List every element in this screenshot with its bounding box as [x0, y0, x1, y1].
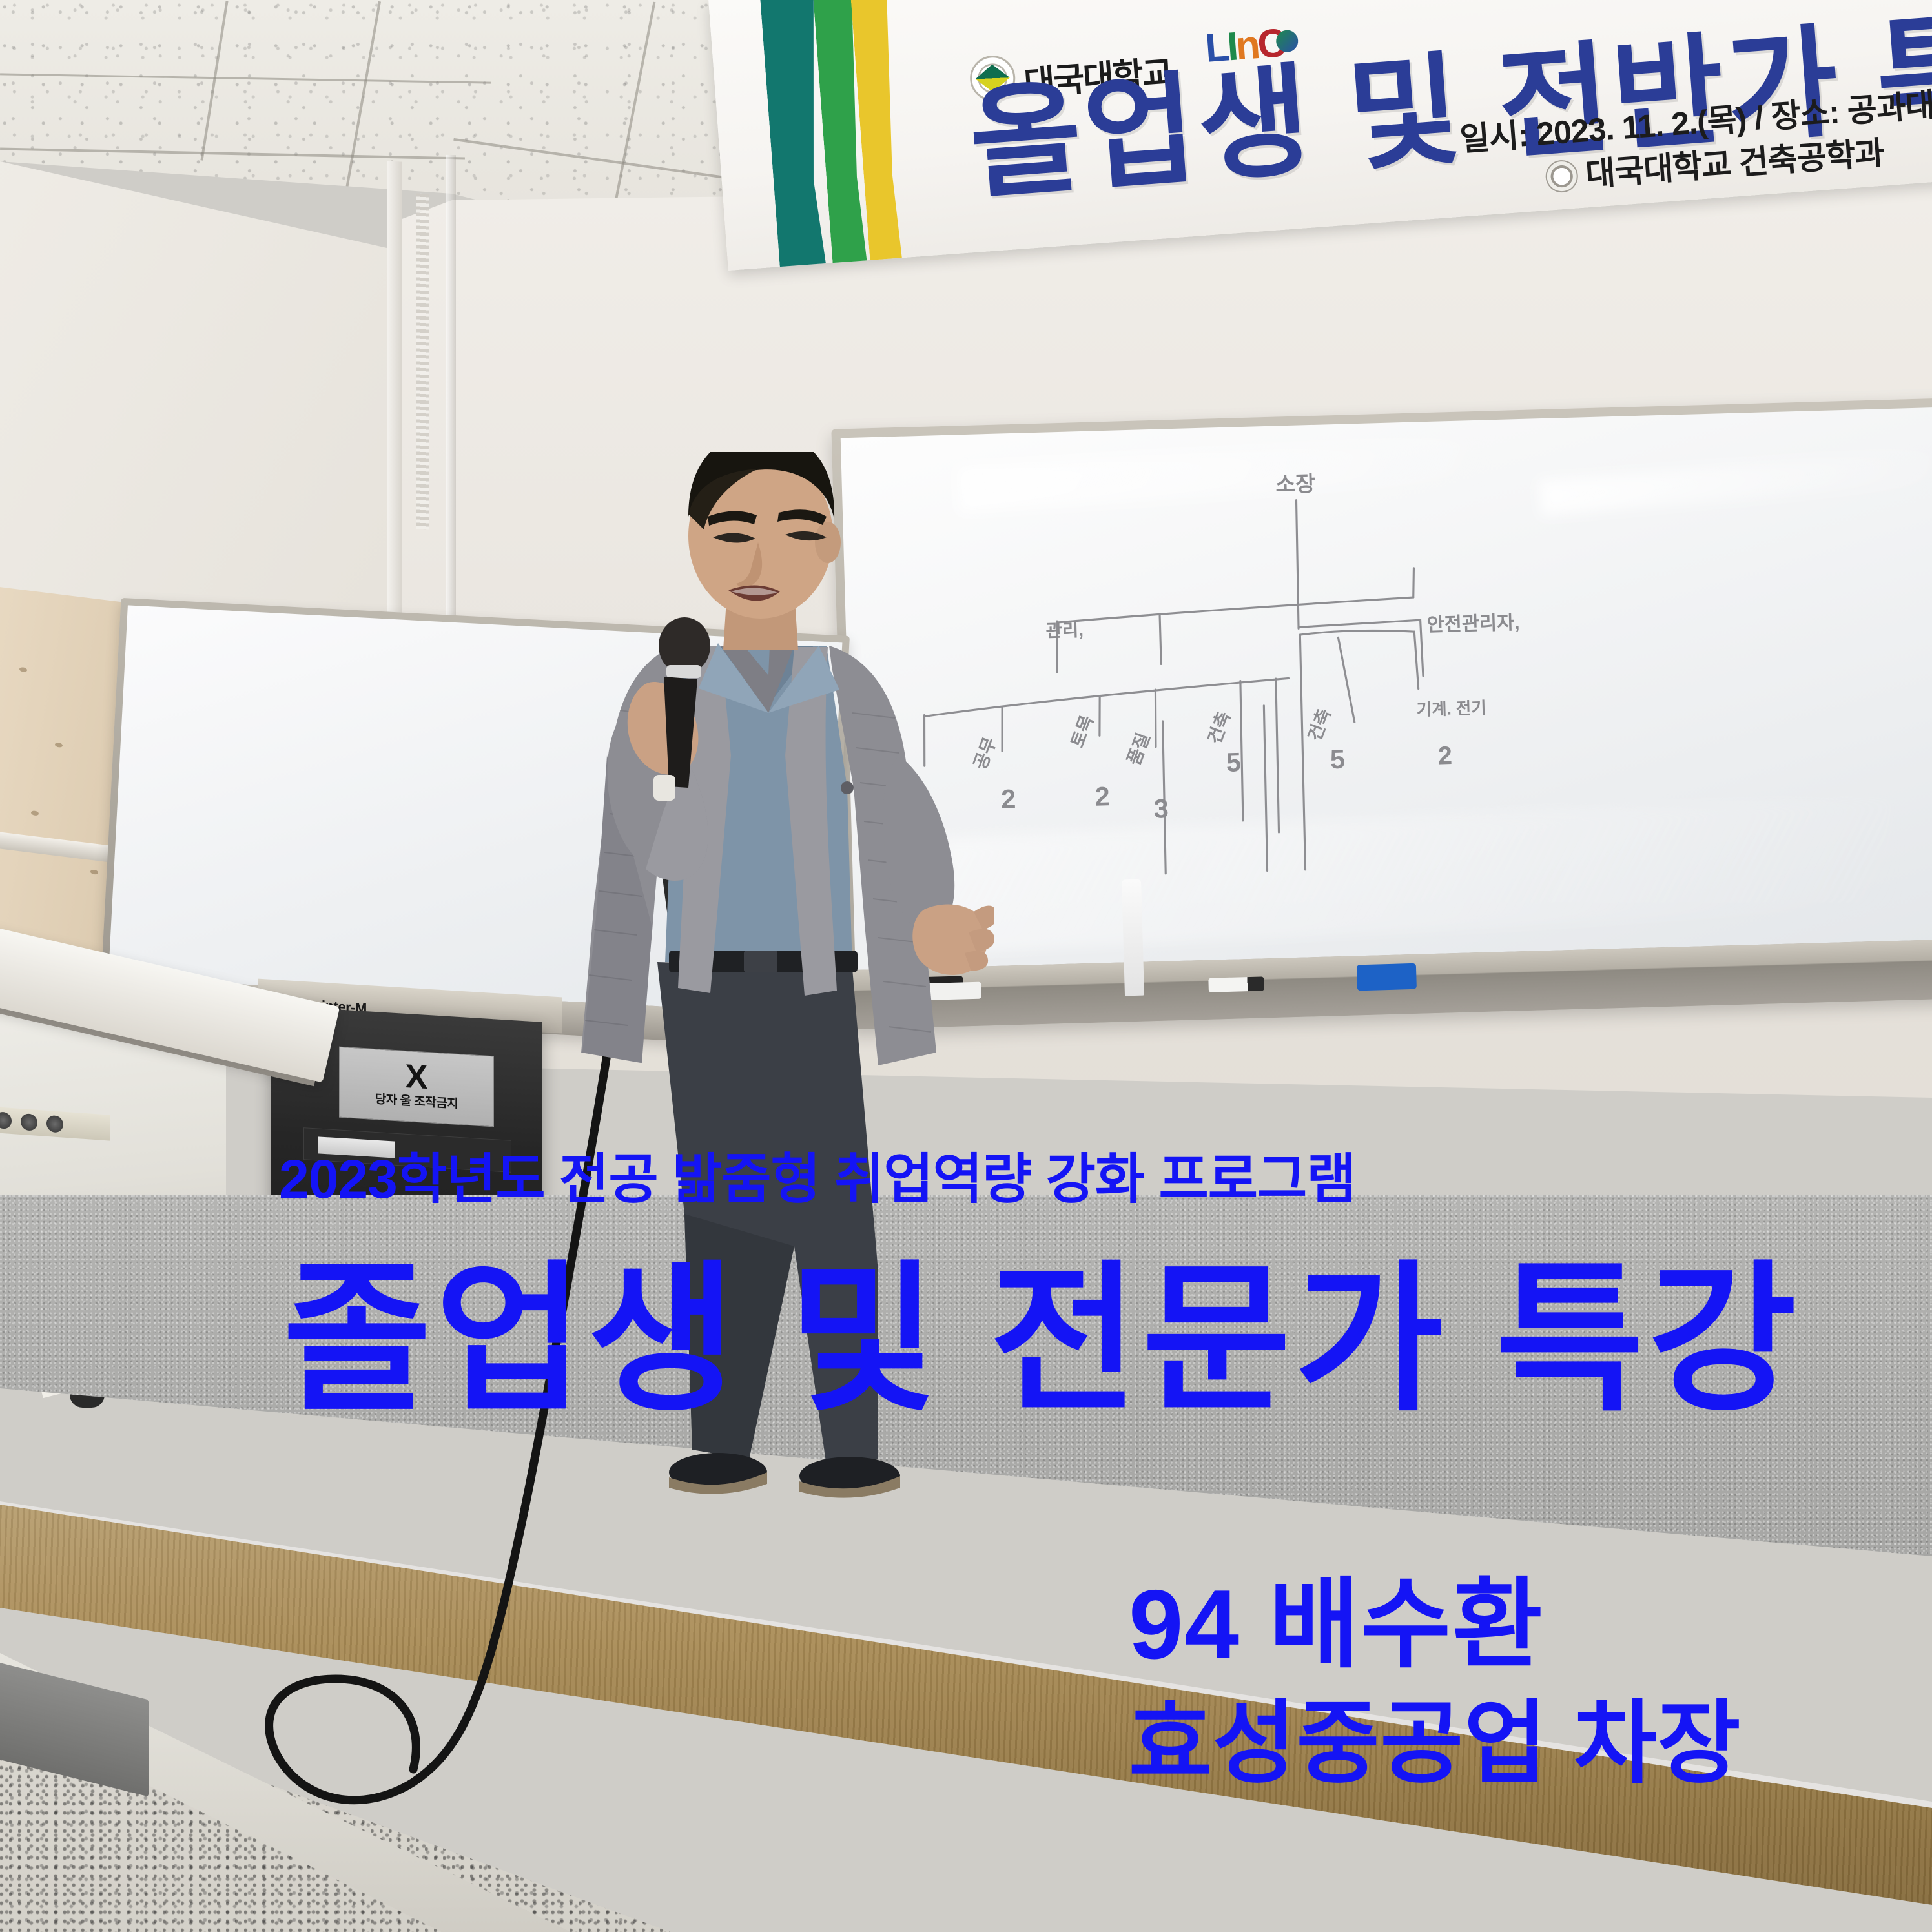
warning-text: 당자 울 조작금지 — [375, 1089, 458, 1112]
wb-node-arch1: 건축 — [1204, 709, 1235, 746]
wb-node-root: 소장 — [1275, 472, 1316, 497]
main-whiteboard: 소장 관리, 안전관리자, 기계. 전기 2 설계 공무 토목 품질 건축 건축 — [831, 398, 1932, 1030]
wb-label-management: 관리, — [1045, 620, 1084, 641]
whiteboard-org-chart: 소장 관리, 안전관리자, 기계. 전기 2 설계 공무 토목 품질 건축 건축 — [841, 407, 1932, 970]
jacket-button — [841, 781, 854, 794]
photo-canvas: 대국대학교 LInC 올업생 및 전반가 특강 일시: 2023. 11. 2.… — [0, 0, 1932, 1932]
overlay-speaker-name: 94 배수환 — [1129, 1576, 1544, 1674]
overlay-speaker-affiliation: 효성중공업 차장 — [1129, 1698, 1742, 1789]
overlay-title: 졸업생 및 전문가 특강 — [283, 1259, 1800, 1421]
whiteboard-surface: 소장 관리, 안전관리자, 기계. 전기 2 설계 공무 토목 품질 건축 건축 — [841, 407, 1932, 970]
white-marker-icon — [1208, 976, 1264, 992]
av-rack-warning-sign: X 당자 울 조작금지 — [339, 1047, 494, 1127]
speaker-person — [491, 452, 994, 1679]
wb-count-civil: 2 — [1094, 781, 1110, 812]
wall-vent — [416, 193, 429, 529]
ear — [815, 522, 841, 563]
wb-count-arch2: 5 — [1330, 745, 1345, 775]
wb-node-quality: 품질 — [1124, 730, 1154, 768]
wb-count-arch1: 5 — [1226, 747, 1241, 777]
blue-eraser-icon — [1357, 963, 1417, 991]
wb-node-arch2: 건축 — [1304, 706, 1335, 743]
wb-count-office: 2 — [1001, 784, 1016, 814]
wb-node-civil: 토목 — [1067, 713, 1097, 750]
overlay-subtitle: 2023학년도 전공 밞줌형 취업역량 강화 프로그램 — [279, 1152, 1356, 1206]
right-hand — [912, 904, 994, 974]
banner-ribbon — [758, 0, 951, 271]
wb-count-mech-elec: 2 — [1437, 741, 1452, 770]
department-seal-icon — [1545, 159, 1579, 194]
wb-count-quality: 3 — [1153, 794, 1169, 824]
warning-x-icon: X — [406, 1064, 428, 1092]
wb-node-mech-elec: 기계. 전기 — [1416, 699, 1486, 719]
wb-label-safety: 안전관리자, — [1426, 612, 1520, 636]
spray-bottle-icon — [1122, 879, 1144, 996]
